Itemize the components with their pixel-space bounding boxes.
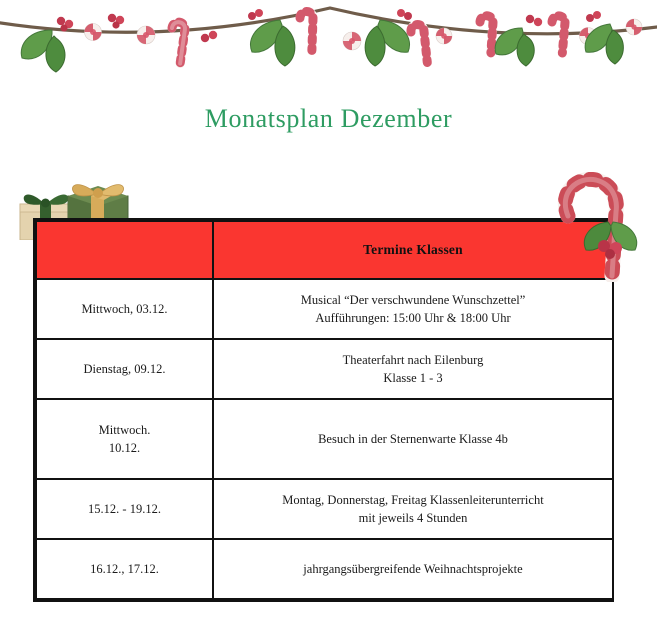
event-line: jahrgangsübergreifende Weihnachtsprojekt…	[214, 560, 612, 578]
event-line: mit jeweils 4 Stunden	[214, 509, 612, 527]
page-title: Monatsplan Dezember	[0, 104, 657, 134]
cell-date: 15.12. - 19.12.	[36, 479, 213, 539]
table-head: Termine Klassen	[36, 221, 613, 279]
cell-event: Theaterfahrt nach Eilenburg Klasse 1 - 3	[213, 339, 613, 399]
cell-date: Mittwoch, 03.12.	[36, 279, 213, 339]
date-line: 16.12., 17.12.	[37, 560, 212, 578]
cell-event: Besuch in der Sternenwarte Klasse 4b	[213, 399, 613, 479]
table-row: Mittwoch. 10.12. Besuch in der Sternenwa…	[36, 399, 613, 479]
cell-event: Musical “Der verschwundene Wunschzettel”…	[213, 279, 613, 339]
date-line: Dienstag, 09.12.	[37, 360, 212, 378]
table-row: 16.12., 17.12. jahrgangsübergreifende We…	[36, 539, 613, 599]
event-line: Besuch in der Sternenwarte Klasse 4b	[214, 430, 612, 448]
garland-decoration	[0, 0, 657, 75]
date-line: 15.12. - 19.12.	[37, 500, 212, 518]
date-line: Mittwoch.	[37, 421, 212, 439]
cell-date: 16.12., 17.12.	[36, 539, 213, 599]
table-body: Mittwoch, 03.12. Musical “Der verschwund…	[36, 279, 613, 599]
peppermint-candies	[85, 19, 643, 50]
cell-event: Montag, Donnerstag, Freitag Klassenleite…	[213, 479, 613, 539]
event-line: Theaterfahrt nach Eilenburg	[214, 351, 612, 369]
event-line: Klasse 1 - 3	[214, 369, 612, 387]
column-header-date	[36, 221, 213, 279]
holly-sprigs	[21, 9, 623, 72]
candy-canes	[167, 11, 565, 64]
schedule-table: Termine Klassen Mittwoch, 03.12. Musical…	[35, 220, 614, 600]
event-line: Montag, Donnerstag, Freitag Klassenleite…	[214, 491, 612, 509]
schedule-table-container: Termine Klassen Mittwoch, 03.12. Musical…	[33, 218, 614, 602]
table-row: Mittwoch, 03.12. Musical “Der verschwund…	[36, 279, 613, 339]
table-header-row: Termine Klassen	[36, 221, 613, 279]
event-line: Aufführungen: 15:00 Uhr & 18:00 Uhr	[214, 309, 612, 327]
date-line: 10.12.	[37, 439, 212, 457]
table-row: Dienstag, 09.12. Theaterfahrt nach Eilen…	[36, 339, 613, 399]
cell-date: Dienstag, 09.12.	[36, 339, 213, 399]
cell-date: Mittwoch. 10.12.	[36, 399, 213, 479]
column-header-events: Termine Klassen	[213, 221, 613, 279]
event-line: Musical “Der verschwundene Wunschzettel”	[214, 291, 612, 309]
cell-event: jahrgangsübergreifende Weihnachtsprojekt…	[213, 539, 613, 599]
table-row: 15.12. - 19.12. Montag, Donnerstag, Frei…	[36, 479, 613, 539]
date-line: Mittwoch, 03.12.	[37, 300, 212, 318]
